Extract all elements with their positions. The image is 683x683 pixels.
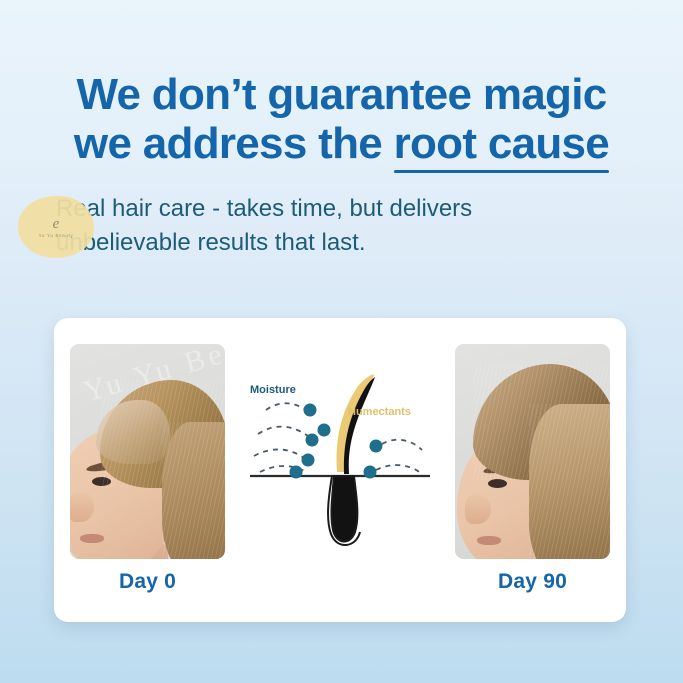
after-photo — [455, 344, 610, 559]
brand-watermark-badge: e Yu Yu Beauty — [18, 196, 94, 258]
before-after-card: Yu Yu Be — [54, 318, 626, 622]
moisture-dot — [306, 434, 319, 447]
lip-shape — [477, 536, 501, 545]
hair-side-mass — [529, 404, 610, 559]
moisture-trail — [382, 440, 422, 450]
follicle-bulb-shape — [331, 476, 357, 542]
moisture-dot — [364, 466, 377, 479]
hair-follicle-diagram: Moisture Humectants — [236, 348, 444, 560]
moisture-dot — [302, 454, 315, 467]
moisture-dot — [318, 424, 331, 437]
hair-side-mass — [162, 422, 225, 559]
moisture-trail — [266, 403, 306, 410]
moisture-dot — [370, 440, 383, 453]
diagram-label-humectants: Humectants — [348, 406, 411, 418]
subheading: Real hair care - takes time, but deliver… — [56, 192, 636, 260]
day-label-after: Day 90 — [455, 570, 610, 594]
headline-line-2-prefix: we address the — [74, 119, 394, 168]
hair-strand-texture — [529, 404, 610, 559]
lip-shape — [80, 534, 104, 543]
subheading-line-2: unbelievable results that last. — [56, 226, 636, 260]
hair-strand-texture — [162, 422, 225, 559]
headline-line-1: We don’t guarantee magic — [0, 72, 683, 119]
nose-shape — [465, 494, 491, 524]
moisture-dot — [290, 466, 303, 479]
moisture-dot — [304, 404, 317, 417]
before-photo: Yu Yu Be — [70, 344, 225, 559]
watermark-brand-text: Yu Yu Beauty — [39, 233, 74, 238]
moisture-trail — [258, 427, 308, 436]
after-portrait-image — [455, 344, 610, 559]
thinning-hairline-region — [96, 400, 170, 464]
subheading-line-1: Real hair care - takes time, but deliver… — [56, 192, 636, 226]
watermark-monogram: e — [53, 217, 60, 232]
diagram-label-moisture: Moisture — [250, 384, 296, 396]
eye-shape — [92, 477, 111, 486]
before-portrait-image: Yu Yu Be — [70, 344, 225, 559]
headline-emphasis-root-cause: root cause — [394, 121, 610, 170]
day-label-before: Day 0 — [70, 570, 225, 594]
headline-line-2: we address the root cause — [0, 121, 683, 170]
poster-canvas: We don’t guarantee magic we address the … — [0, 0, 683, 683]
eye-shape — [488, 479, 507, 488]
page-title: We don’t guarantee magic we address the … — [0, 72, 683, 169]
moisture-trail — [254, 449, 304, 458]
moisture-trail — [376, 465, 422, 474]
